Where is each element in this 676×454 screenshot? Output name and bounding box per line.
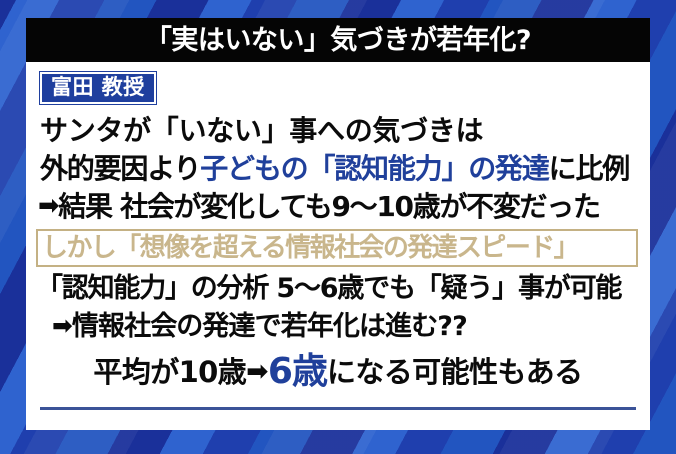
bottom-divider — [40, 407, 636, 410]
body-line-6-text: 情報社会の発達で若年化は進む?? — [72, 313, 467, 340]
body-line-5: 「認知能力」の分析 5〜6歳でも「疑う」事が可能 — [26, 269, 650, 307]
body-text-block: サンタが「いない」事への気づきは 外的要因より子どもの「認知能力」の発達に比例 … — [26, 112, 650, 395]
speaker-badge: 富田 教授 — [40, 72, 156, 104]
content-card: 「実はいない」気づきが若年化? 富田 教授 サンタが「いない」事への気づきは 外… — [26, 18, 650, 430]
right-arrow-icon: ➡ — [52, 314, 72, 339]
highlighted-quote-box: しかし「想像を超える情報社会の発達スピード」 — [36, 229, 638, 267]
body-line-5-text: 「認知能力」の分析 5〜6歳でも「疑う」事が可能 — [36, 275, 621, 302]
right-arrow-icon: ➡ — [38, 194, 58, 220]
body-line-3-text: 結果 社会が変化しても9〜10歳が不変だった — [58, 193, 599, 221]
body-line-3: ➡結果 社会が変化しても9〜10歳が不変だった — [26, 188, 650, 226]
speaker-badge-label: 富田 教授 — [51, 75, 145, 99]
body-line-1-text: サンタが「いない」事への気づきは — [40, 117, 483, 145]
right-arrow-icon: ➡ — [246, 359, 268, 386]
infographic-stage: 「実はいない」気づきが若年化? 富田 教授 サンタが「いない」事への気づきは 外… — [0, 0, 676, 454]
body-line-1: サンタが「いない」事への気づきは — [26, 112, 650, 150]
body-line-6: ➡情報社会の発達で若年化は進む?? — [26, 307, 650, 345]
highlighted-quote-text: しかし「想像を超える情報社会の発達スピード」 — [42, 235, 578, 261]
conclusion-line: 平均が10歳➡6歳になる可能性もある — [26, 349, 650, 395]
title-bar: 「実はいない」気づきが若年化? — [26, 18, 650, 62]
body-line-2-prefix: 外的要因より — [40, 155, 200, 183]
page-title: 「実はいない」気づきが若年化? — [145, 27, 531, 54]
body-line-2: 外的要因より子どもの「認知能力」の発達に比例 — [26, 150, 650, 188]
body-line-2-highlight: 子どもの「認知能力」の発達 — [200, 155, 548, 183]
conclusion-prefix: 平均が10歳 — [93, 358, 246, 387]
conclusion-highlight: 6歳 — [268, 354, 327, 390]
body-line-2-suffix: に比例 — [549, 155, 629, 183]
conclusion-suffix: になる可能性もある — [327, 358, 583, 387]
